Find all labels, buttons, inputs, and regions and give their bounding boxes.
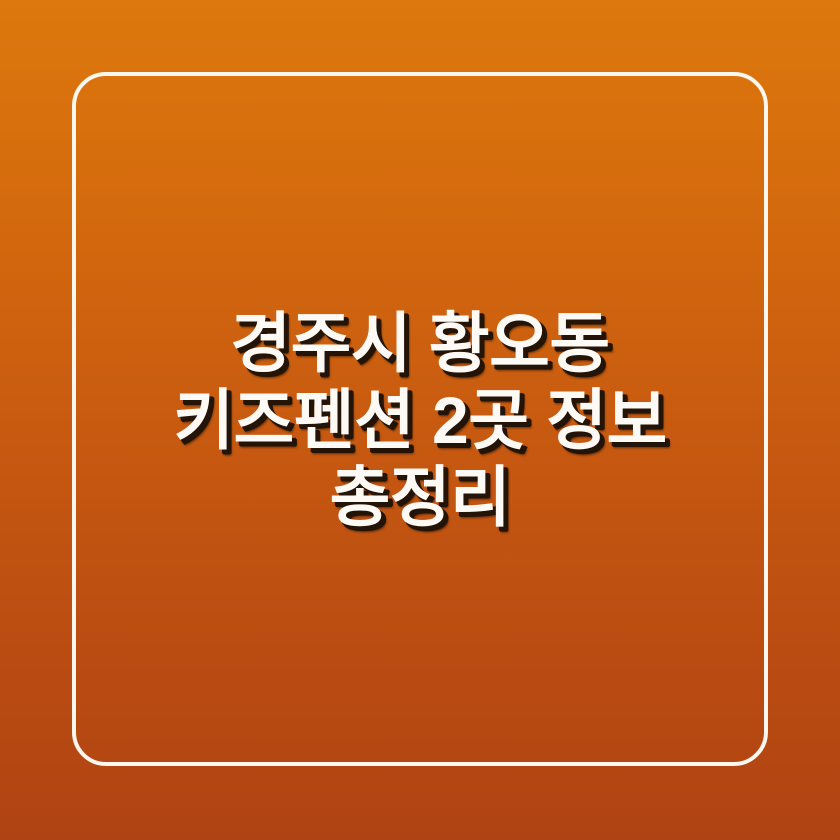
title-line-1: 경주시 황오동 <box>90 305 750 382</box>
title-line-3: 총정리 <box>90 459 750 536</box>
thumbnail-card: 경주시 황오동 키즈펜션 2곳 정보 총정리 <box>0 0 840 840</box>
title-block: 경주시 황오동 키즈펜션 2곳 정보 총정리 <box>0 0 840 840</box>
title-line-2: 키즈펜션 2곳 정보 <box>90 382 750 459</box>
